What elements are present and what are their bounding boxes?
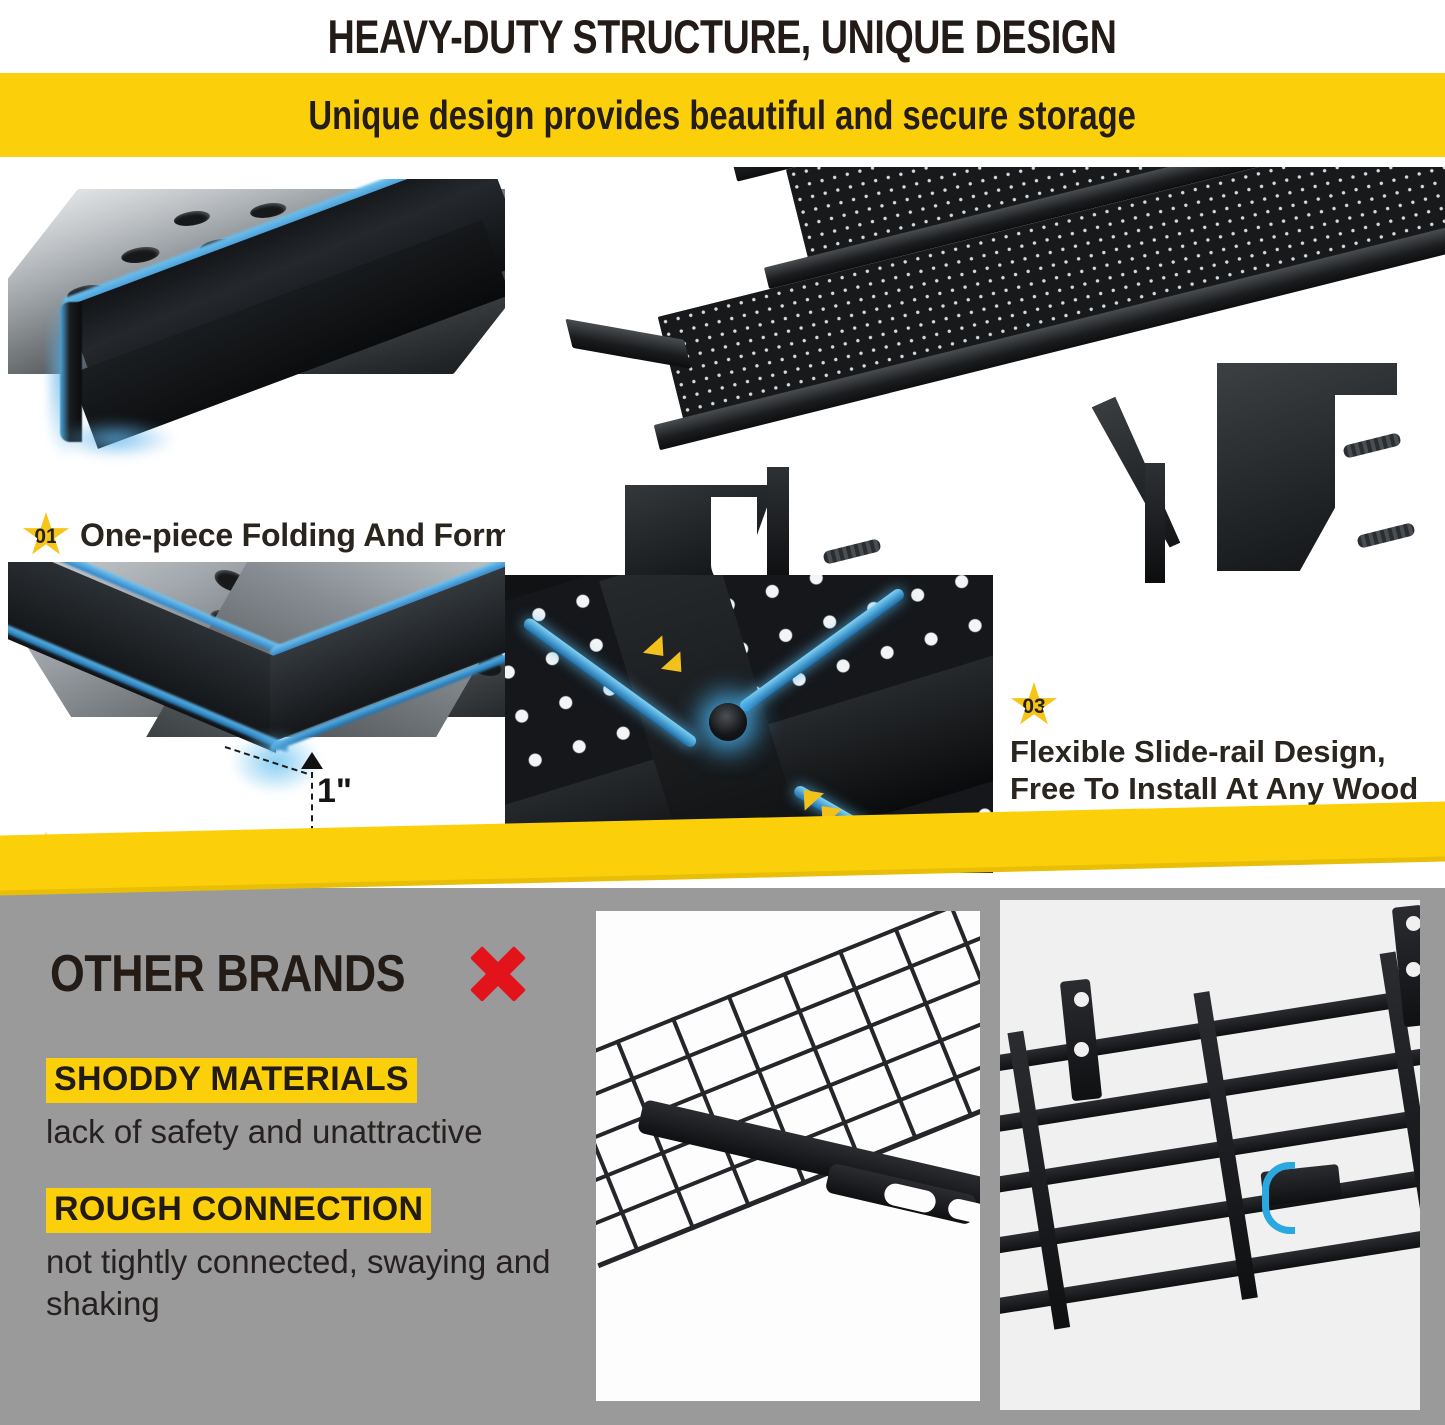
comparison-item: ROUGH CONNECTION not tightly connected, … [46, 1188, 566, 1324]
comparison-item-title: ROUGH CONNECTION [46, 1188, 431, 1233]
mounting-bolt-icon [709, 703, 747, 741]
comparison-item: SHODDY MATERIALS lack of safety and unat… [46, 1058, 556, 1153]
photo-one-piece-folding [8, 179, 508, 497]
blue-corner-glow [56, 419, 176, 459]
infographic-page: HEAVY-DUTY STRUCTURE, UNIQUE DESIGN Uniq… [0, 0, 1445, 1425]
subtitle-text: Unique design provides beautiful and sec… [309, 92, 1136, 139]
rack-gusset-cutout [1335, 395, 1405, 545]
x-mark-icon [467, 943, 529, 1005]
photo-competitor-tube-rack [1000, 900, 1420, 1410]
photo-main-product-rack: AECXM [505, 167, 1445, 587]
comparison-text-panel: OTHER BRANDS SHODDY MATERIALS lack of sa… [0, 888, 580, 1425]
page-title: HEAVY-DUTY STRUCTURE, UNIQUE DESIGN [0, 0, 1445, 73]
subtitle-banner: Unique design provides beautiful and sec… [0, 73, 1445, 157]
bracket-hole [1074, 992, 1089, 1007]
dimension-line [311, 772, 313, 832]
bracket-hole [1406, 916, 1420, 931]
bracket-hole [1074, 1042, 1089, 1057]
feature-number: 01 [34, 525, 57, 549]
rack-gusset-cutout-left [711, 497, 757, 587]
rack-support-bracket-right [1092, 397, 1181, 554]
comparison-heading-text: OTHER BRANDS [50, 944, 405, 1004]
rack-screw-icon [822, 538, 881, 565]
comparison-item-description: lack of safety and unattractive [46, 1111, 556, 1153]
feature-label-01: 01 One-piece Folding And Forming [22, 512, 560, 558]
comparison-section: OTHER BRANDS SHODDY MATERIALS lack of sa… [0, 888, 1445, 1425]
dimension-callout: 1" [253, 742, 383, 832]
dimension-value: 1" [317, 772, 352, 811]
features-section: 01 One-piece Folding And Forming [0, 157, 1445, 888]
bracket-hole [1406, 962, 1420, 977]
photo-competitor-wire-rack [596, 911, 980, 1401]
comparison-item-description: not tightly connected, swaying and shaki… [46, 1241, 566, 1324]
star-badge-icon: 03 [1010, 682, 1058, 728]
photo-thick-sturdy-frame: 1" [8, 562, 508, 832]
feature-number: 03 [1022, 695, 1045, 719]
comparison-heading: OTHER BRANDS [50, 943, 529, 1005]
rack-vertical-post [1145, 463, 1165, 583]
page-title-text: HEAVY-DUTY STRUCTURE, UNIQUE DESIGN [328, 9, 1117, 64]
rack-vertical-post [767, 467, 789, 585]
comparison-item-title: SHODDY MATERIALS [46, 1058, 417, 1103]
loose-connection-highlight-icon [1262, 1162, 1295, 1234]
feature-text: One-piece Folding And Forming [80, 517, 560, 554]
star-badge-icon: 01 [22, 512, 70, 558]
dimension-arrow-up-icon [301, 752, 323, 769]
